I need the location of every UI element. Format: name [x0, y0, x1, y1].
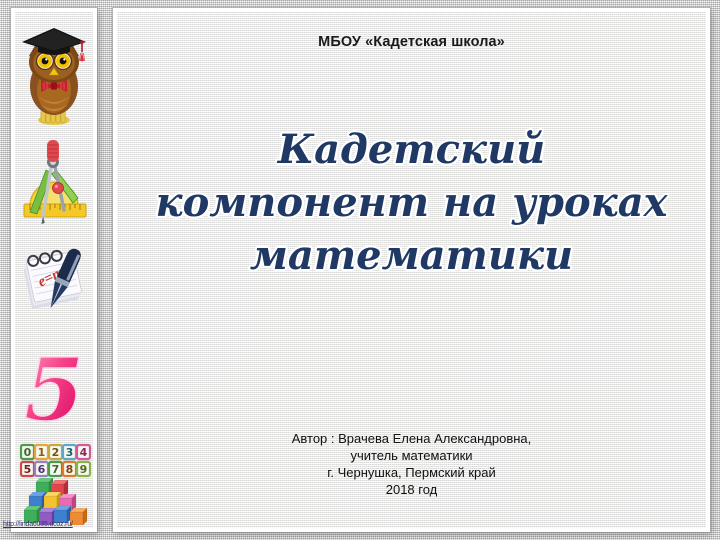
svg-text:2: 2	[52, 446, 60, 459]
svg-text:1: 1	[38, 446, 46, 459]
author-line-name: Автор : Врачева Елена Александровна,	[147, 430, 676, 447]
author-line-role: учитель математики	[147, 447, 676, 464]
title-line-2: компонент на уроках	[131, 177, 692, 230]
school-name-heading: МБОУ «Кадетская школа»	[117, 34, 706, 50]
presentation-slide: e=mc2	[0, 0, 720, 540]
pink-five-glyph: 5	[24, 342, 84, 434]
title-line-3: математики	[131, 230, 692, 283]
notepad-pen-icon: e=mc2	[15, 244, 93, 320]
owl-graduate-icon	[15, 16, 93, 128]
svg-text:0: 0	[24, 446, 32, 459]
pink-five-icon: 5	[15, 342, 93, 434]
author-credits: Автор : Врачева Елена Александровна, учи…	[147, 430, 676, 499]
svg-text:3: 3	[66, 446, 74, 459]
author-line-year: 2018 год	[147, 481, 676, 498]
decoration-sidebar: e=mc2	[11, 8, 97, 532]
slide-title: Кадетский компонент на уроках математики	[131, 124, 692, 282]
source-watermark-link[interactable]: http://linda6035.ucoz.ru/	[3, 521, 73, 528]
main-content-panel: МБОУ «Кадетская школа» Кадетский компоне…	[113, 8, 710, 532]
svg-text:4: 4	[80, 446, 88, 459]
compass-ruler-icon	[15, 140, 93, 232]
author-line-location: г. Чернушка, Пермский край	[147, 464, 676, 481]
title-line-1: Кадетский	[131, 124, 692, 177]
